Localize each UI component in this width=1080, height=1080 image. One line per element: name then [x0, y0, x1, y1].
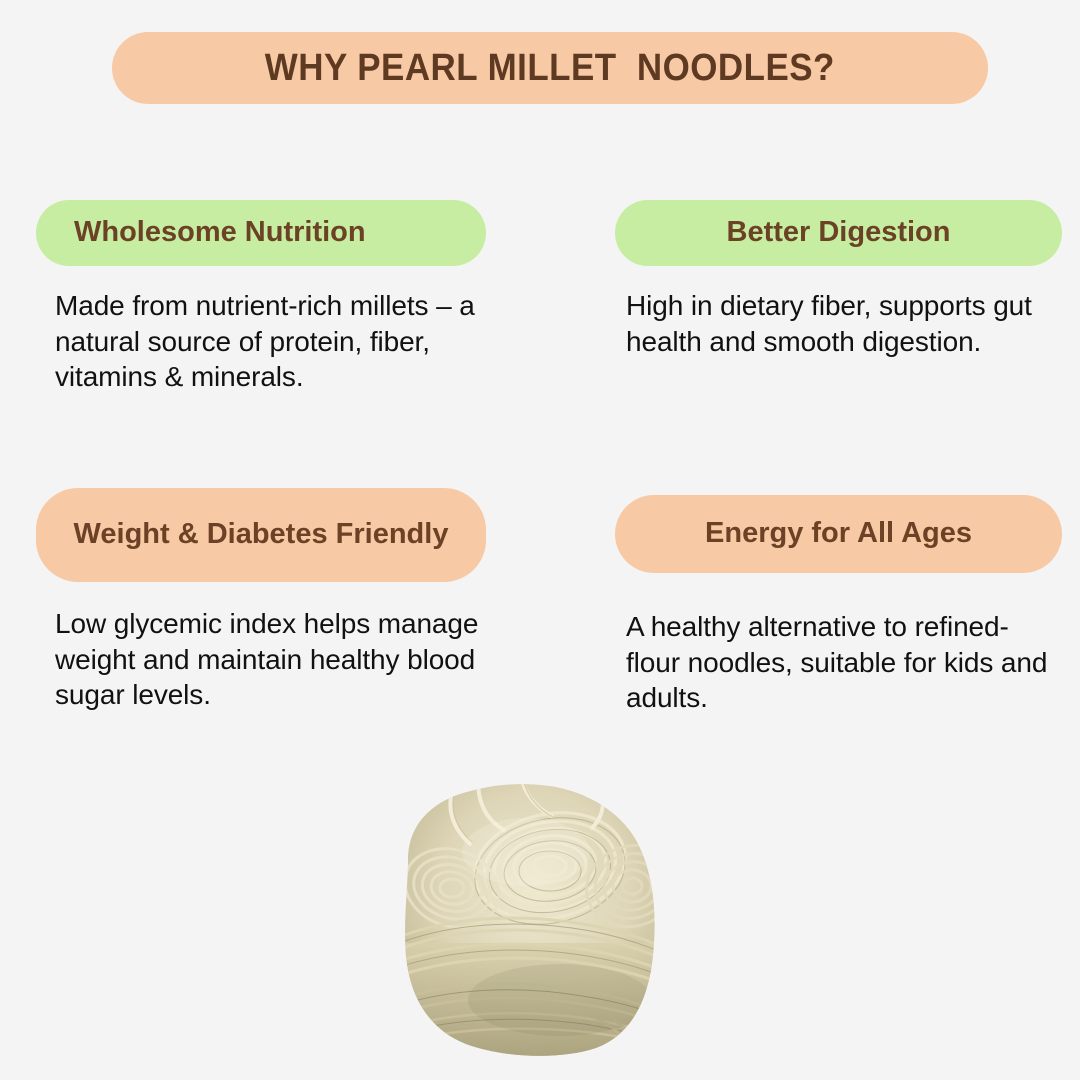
card-heading-pill-weight-diabetes-friendly: Weight & Diabetes Friendly	[36, 488, 486, 582]
infographic-canvas: WHY PEARL MILLET NOODLES? Wholesome Nutr…	[0, 0, 1080, 1080]
page-title: WHY PEARL MILLET NOODLES?	[265, 47, 835, 90]
card-heading-pill-wholesome-nutrition: Wholesome Nutrition	[36, 200, 486, 266]
card-heading-label: Weight & Diabetes Friendly	[36, 517, 486, 552]
card-body-text: Low glycemic index helps manage weight a…	[36, 606, 486, 713]
noodle-nest-photo	[400, 768, 680, 1056]
card-better-digestion: Better Digestion High in dietary fiber, …	[615, 200, 1062, 359]
card-heading-label: Better Digestion	[615, 215, 1062, 250]
card-body-text: Made from nutrient-rich millets – a natu…	[36, 288, 486, 395]
card-heading-pill-better-digestion: Better Digestion	[615, 200, 1062, 266]
noodle-nest-illustration	[400, 768, 680, 1056]
card-heading-pill-energy-for-all-ages: Energy for All Ages	[615, 495, 1062, 573]
card-energy-for-all-ages: Energy for All Ages A healthy alternativ…	[615, 495, 1062, 716]
card-body-text: A healthy alternative to refined-flour n…	[615, 609, 1062, 716]
card-wholesome-nutrition: Wholesome Nutrition Made from nutrient-r…	[36, 200, 486, 395]
card-heading-label: Energy for All Ages	[615, 516, 1062, 551]
title-banner: WHY PEARL MILLET NOODLES?	[112, 32, 988, 104]
card-body-text: High in dietary fiber, supports gut heal…	[615, 288, 1062, 359]
card-weight-diabetes-friendly: Weight & Diabetes Friendly Low glycemic …	[36, 488, 486, 713]
card-heading-label: Wholesome Nutrition	[36, 215, 486, 250]
